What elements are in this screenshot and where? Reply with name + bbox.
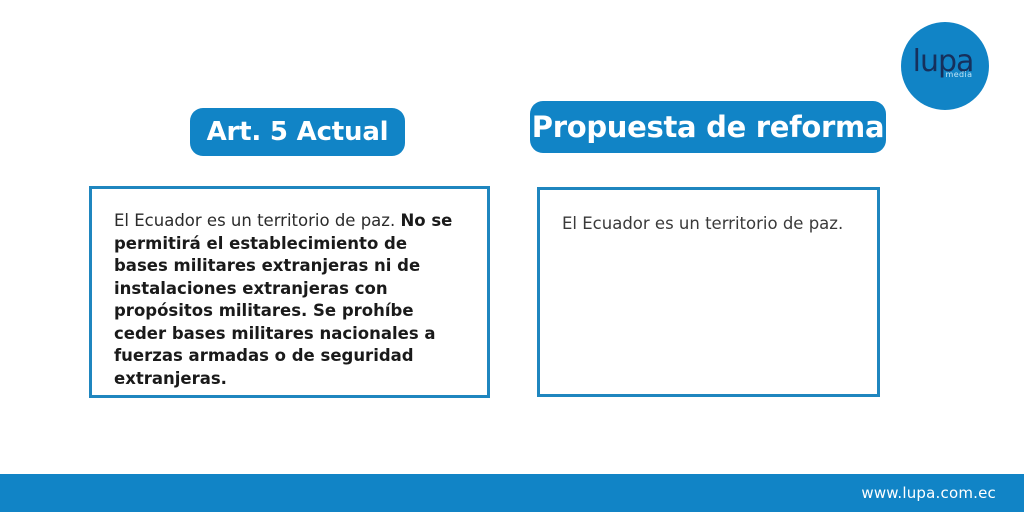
slide-canvas: lupa media Art. 5 Actual Propuesta de re… bbox=[0, 0, 1024, 512]
current-article-text: El Ecuador es un territorio de paz. No s… bbox=[114, 210, 465, 390]
badge-propuesta-de-reforma: Propuesta de reforma bbox=[530, 101, 886, 153]
badge-art-5-actual: Art. 5 Actual bbox=[190, 108, 405, 156]
logo-tagline: media bbox=[946, 70, 973, 79]
proposed-reform-text: El Ecuador es un territorio de paz. bbox=[562, 212, 855, 236]
current-article-text-bold: No se permitirá el establecimiento de ba… bbox=[114, 211, 452, 388]
badge-left-label: Art. 5 Actual bbox=[207, 117, 389, 147]
current-article-text-plain: El Ecuador es un territorio de paz. bbox=[114, 211, 400, 230]
lupa-logo: lupa media bbox=[901, 22, 989, 110]
text-box-proposed-reform: El Ecuador es un territorio de paz. bbox=[537, 187, 880, 397]
text-box-current-article: El Ecuador es un territorio de paz. No s… bbox=[89, 186, 490, 398]
badge-right-label: Propuesta de reforma bbox=[532, 110, 884, 144]
footer-bar: www.lupa.com.ec bbox=[0, 474, 1024, 512]
footer-website-url: www.lupa.com.ec bbox=[861, 484, 996, 502]
